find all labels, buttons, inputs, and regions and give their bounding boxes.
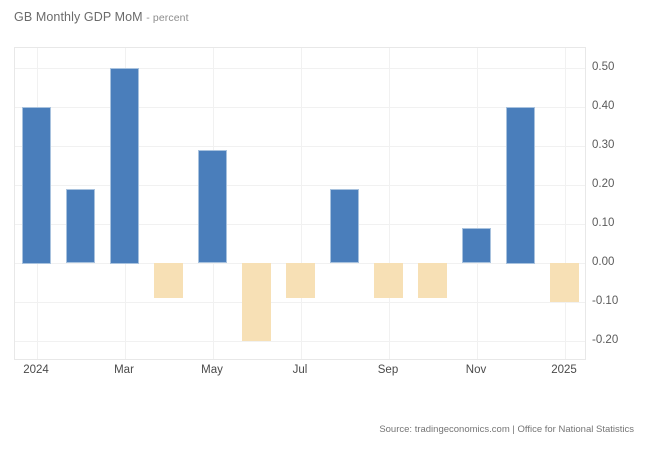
bar-2024-08[interactable]: [330, 189, 359, 263]
y-axis-tick-label: 0.00: [592, 256, 614, 268]
x-axis-tick-label: Nov: [466, 364, 486, 376]
bar-2024-04[interactable]: [154, 263, 183, 298]
x-axis: 2024MarMayJulSepNov2025: [14, 364, 586, 386]
bar-2024-05[interactable]: [198, 150, 227, 263]
chart-container: GB Monthly GDP MoM - percent 0.500.400.3…: [0, 0, 650, 451]
y-axis-tick-label: -0.10: [592, 295, 618, 307]
y-axis-tick-label: 0.50: [592, 61, 614, 73]
x-axis-tick-label: Sep: [378, 364, 398, 376]
y-axis-tick-label: 0.30: [592, 139, 614, 151]
x-axis-tick-label: 2024: [23, 364, 49, 376]
chart-title-subtitle: - percent: [146, 12, 188, 24]
bar-2024-02[interactable]: [66, 189, 95, 263]
x-axis-tick-label: 2025: [551, 364, 577, 376]
y-axis: 0.500.400.300.200.100.00-0.10-0.20: [592, 47, 648, 360]
y-axis-tick-label: 0.20: [592, 178, 614, 190]
x-axis-tick-label: Mar: [114, 364, 134, 376]
chart-title: GB Monthly GDP MoM - percent: [14, 10, 189, 24]
y-axis-tick-label: 0.40: [592, 100, 614, 112]
source-note: Source: tradingeconomics.com | Office fo…: [379, 424, 634, 435]
bar-2024-06[interactable]: [242, 263, 271, 341]
y-axis-tick-label: 0.10: [592, 217, 614, 229]
bar-2024-12[interactable]: [506, 107, 535, 264]
x-axis-tick-label: May: [201, 364, 223, 376]
bar-2024-03[interactable]: [110, 68, 139, 264]
chart-title-main: GB Monthly GDP MoM: [14, 10, 143, 24]
y-axis-tick-label: -0.20: [592, 334, 618, 346]
bar-2024-01[interactable]: [22, 107, 51, 264]
bar-2024-09[interactable]: [374, 263, 403, 298]
bar-2024-07[interactable]: [286, 263, 315, 298]
bar-2024-11[interactable]: [462, 228, 491, 263]
x-axis-tick-label: Jul: [293, 364, 308, 376]
bar-2024-10[interactable]: [418, 263, 447, 298]
plot-area: [14, 47, 586, 360]
bar-2025-01[interactable]: [550, 263, 579, 302]
bars-layer: [15, 48, 585, 359]
